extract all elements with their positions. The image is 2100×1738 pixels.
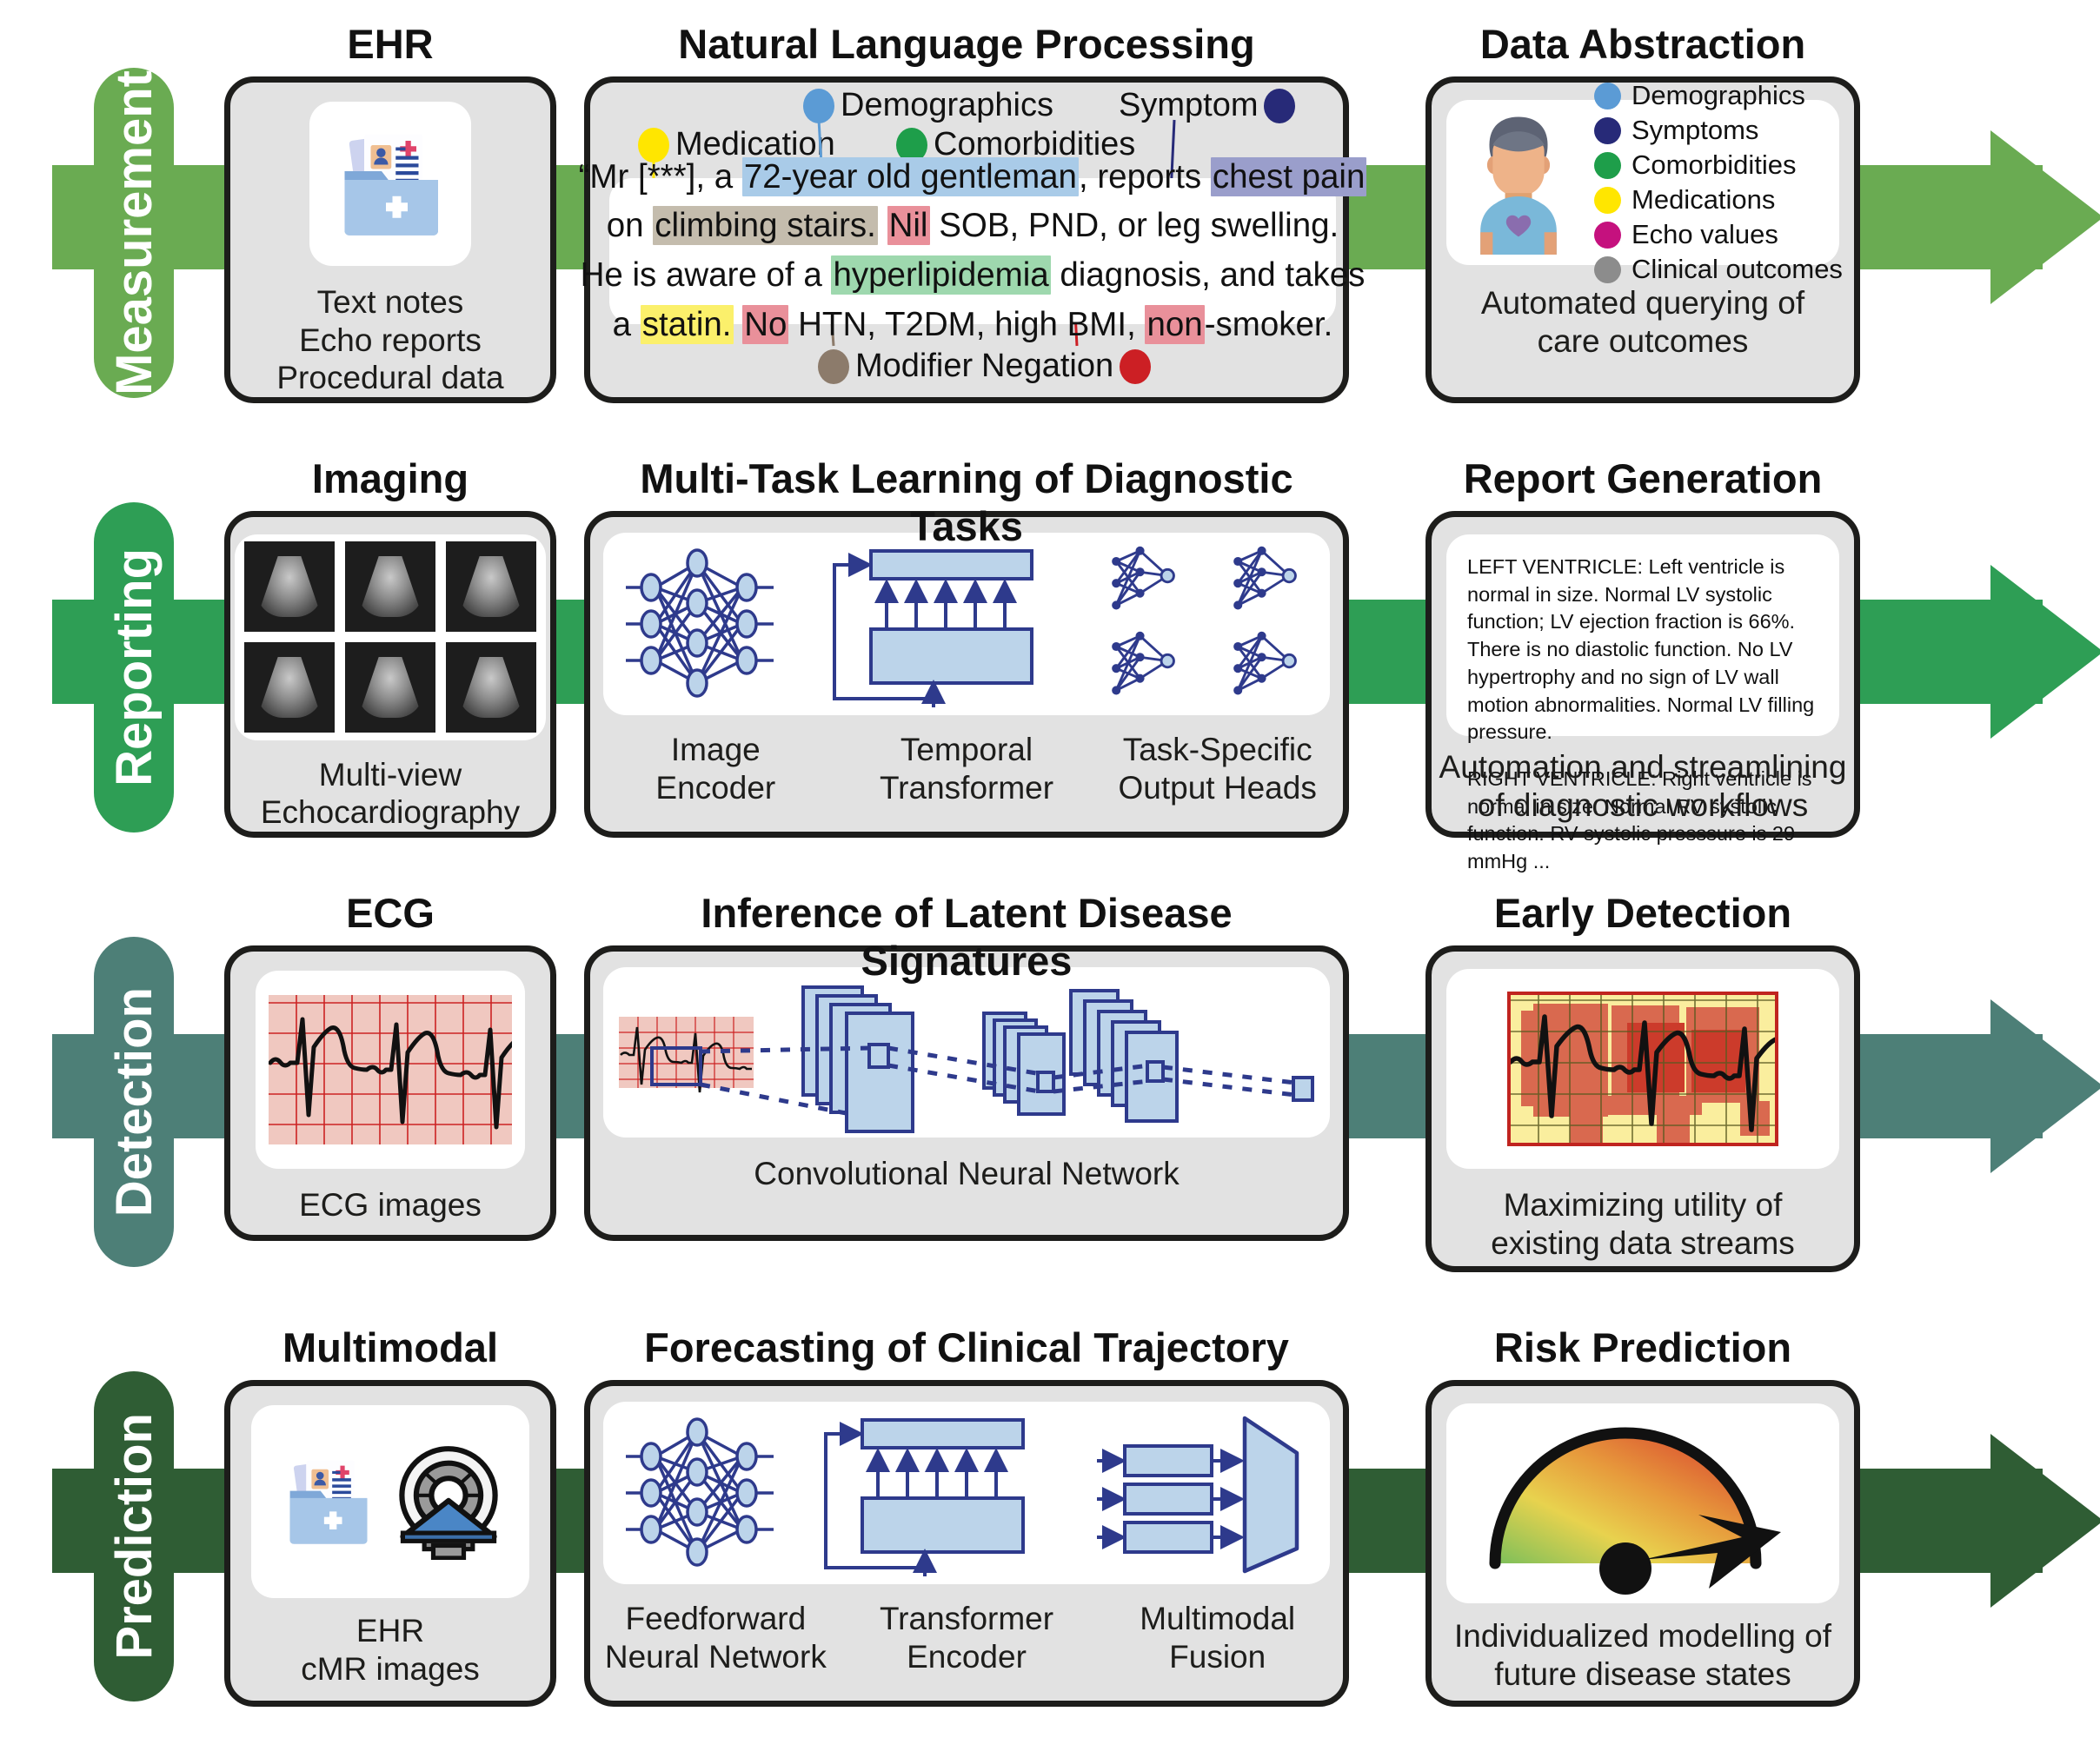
echo-tile — [446, 541, 536, 632]
panel-caption-data-abstraction: Automated querying of care outcomes — [1481, 284, 1804, 360]
panel-title-ecg: ECG — [230, 889, 550, 937]
legend-label: Demographics — [1631, 80, 1805, 111]
ecg-saliency-icon — [1507, 992, 1778, 1146]
echo-values-dot — [1594, 222, 1621, 249]
panel-caption-report-generation: Automation and streamlining of diagnosti… — [1439, 748, 1847, 824]
caption-line: Procedural data — [276, 359, 503, 397]
comorbidities-dot — [1594, 152, 1621, 179]
echo-tile — [244, 541, 335, 632]
ehr-icon-container — [309, 102, 471, 266]
panel-title-risk-prediction: Risk Prediction — [1432, 1323, 1854, 1371]
panel-ehr[interactable]: EHR Text notes Echo reports — [224, 76, 556, 403]
row-label-prediction: Prediction — [94, 1371, 174, 1702]
early-detection-inner — [1446, 969, 1839, 1169]
caption-line: cMR images — [301, 1650, 480, 1688]
panel-caption-ehr: Text notes Echo reports Procedural data — [276, 283, 503, 397]
multitask-sub-labels: ImageEncoder TemporalTransformer Task-Sp… — [590, 731, 1343, 806]
caption-line: future disease states — [1454, 1655, 1831, 1694]
echo-tile — [345, 541, 435, 632]
note-line-4: a statin. No HTN, T2DM, high BMI, non-sm… — [579, 301, 1367, 350]
risk-inner — [1446, 1403, 1839, 1603]
annotation-label: Modifier — [855, 348, 973, 385]
legend-label: Comorbidities — [1631, 149, 1797, 181]
legend-label: Medications — [1631, 184, 1775, 216]
caption-line: Automation and streamlining — [1439, 748, 1847, 786]
multimodal-inner — [251, 1405, 529, 1598]
legend-label: Echo values — [1631, 219, 1778, 250]
legend-item: Comorbidities — [1594, 149, 1843, 181]
sub-label-image-encoder: ImageEncoder — [590, 731, 841, 806]
panel-title-imaging: Imaging — [230, 454, 550, 502]
row-label-reporting: Reporting — [94, 502, 174, 833]
panel-title-report-generation: Report Generation — [1432, 454, 1854, 502]
panel-title-multimodal: Multimodal — [230, 1323, 550, 1371]
panel-report-generation[interactable]: Report Generation LEFT VENTRICLE: Left v… — [1425, 511, 1860, 838]
panel-multimodal[interactable]: Multimodal — [224, 1380, 556, 1707]
row-label-measurement: Measurement — [94, 68, 174, 398]
note-line-1: “Mr [***], a 72-year old gentleman, repo… — [579, 153, 1367, 202]
caption-line: Maximizing utility of — [1491, 1186, 1795, 1224]
panel-title-ehr: EHR — [230, 20, 550, 68]
imaging-inner — [235, 534, 546, 740]
nlp-annotation-negation: Negation — [981, 348, 1151, 385]
abstraction-inner: Demographics Symptoms Comorbidities Medi… — [1446, 100, 1839, 265]
row-arrow-prediction — [1860, 1434, 2100, 1608]
panel-caption-imaging: Multi-view Echocardiography — [261, 756, 520, 832]
caption-line: of diagnostic workflows — [1439, 786, 1847, 825]
annotation-label: Demographics — [841, 87, 1053, 124]
annotation-label: Symptom — [1119, 87, 1258, 124]
caption-line: Automated querying of — [1481, 284, 1804, 322]
nlp-annotation-modifier: Modifier — [818, 348, 973, 385]
nlp-annotation-symptom: Symptom — [1119, 87, 1295, 124]
panel-title-early-detection: Early Detection — [1432, 889, 1854, 937]
row-detection: Detection ECG ECG images Inference of La… — [0, 869, 2100, 1303]
legend-label: Symptoms — [1631, 115, 1758, 146]
row-arrow-detection — [1860, 999, 2100, 1173]
row-prediction: Prediction Multimodal — [0, 1303, 2100, 1738]
forecasting-sub-labels: FeedforwardNeural Network TransformerEnc… — [590, 1600, 1343, 1675]
panel-latent-signatures[interactable]: Inference of Latent Disease Signatures — [584, 945, 1349, 1241]
panel-title-forecasting: Forecasting of Clinical Trajectory — [590, 1323, 1343, 1371]
panel-caption-early-detection: Maximizing utility of existing data stre… — [1491, 1186, 1795, 1262]
ecg-inner — [256, 971, 525, 1169]
panel-title-data-abstraction: Data Abstraction — [1432, 20, 1854, 68]
caption-line: care outcomes — [1481, 322, 1804, 361]
panel-nlp[interactable]: Natural Language Processing Medication D… — [584, 76, 1349, 403]
cnn-diagram — [610, 972, 1323, 1133]
note-line-3: He is aware of a hyperlipidemia diagnosi… — [579, 251, 1367, 301]
patient-avatar-icon — [1462, 111, 1575, 255]
modifier-dot — [818, 349, 849, 384]
panel-imaging[interactable]: Imaging Multi-view Echocardiography — [224, 511, 556, 838]
row-label-text: Reporting — [105, 548, 163, 786]
row-label-detection: Detection — [94, 937, 174, 1267]
caption-line: Echocardiography — [261, 793, 520, 832]
panel-caption-ecg: ECG images — [299, 1186, 482, 1224]
panel-caption-multimodal: EHR cMR images — [301, 1612, 480, 1688]
forecasting-inner — [603, 1402, 1330, 1584]
medications-dot — [1594, 187, 1621, 214]
abstraction-legend: Demographics Symptoms Comorbidities Medi… — [1594, 80, 1843, 285]
note-line-2: on climbing stairs. Nil SOB, PND, or leg… — [579, 202, 1367, 251]
nlp-annotation-demographics: Demographics — [803, 87, 1053, 124]
panel-title-multitask-learning: Multi-Task Learning of Diagnostic Tasks — [590, 454, 1343, 550]
sub-label-task-specific-heads: Task-SpecificOutput Heads — [1092, 731, 1343, 806]
nlp-note-text: “Mr [***], a 72-year old gentleman, repo… — [579, 153, 1367, 349]
panel-ecg[interactable]: ECG ECG images — [224, 945, 556, 1241]
symptom-dot — [1264, 89, 1295, 123]
legend-item: Clinical outcomes — [1594, 254, 1843, 285]
mri-scanner-icon — [390, 1443, 507, 1560]
caption-line: Text notes — [276, 283, 503, 322]
demographics-dot — [803, 89, 834, 123]
panel-risk-prediction[interactable]: Risk Prediction — [1425, 1380, 1860, 1707]
multitask-inner — [603, 533, 1330, 715]
panel-title-nlp: Natural Language Processing — [590, 20, 1343, 68]
echo-tile — [244, 642, 335, 733]
multitask-diagram — [610, 537, 1323, 711]
sub-label-temporal-transformer: TemporalTransformer — [841, 731, 1093, 806]
echocardiography-grid-icon — [244, 541, 536, 733]
sub-label-multimodal-fusion: MultimodalFusion — [1092, 1600, 1343, 1675]
legend-item: Medications — [1594, 184, 1843, 216]
ehr-folder-icon — [274, 1448, 382, 1556]
report-generation-text: LEFT VENTRICLE: Left ventricle is normal… — [1446, 534, 1839, 895]
legend-item: Echo values — [1594, 219, 1843, 250]
panel-early-detection[interactable]: Early Detection — [1425, 945, 1860, 1272]
clinical-outcomes-dot — [1594, 256, 1621, 283]
panel-multitask-learning[interactable]: Multi-Task Learning of Diagnostic Tasks — [584, 511, 1349, 838]
caption-line: existing data streams — [1491, 1224, 1795, 1263]
panel-forecasting[interactable]: Forecasting of Clinical Trajectory — [584, 1380, 1349, 1707]
row-arrow-measurement — [1860, 130, 2100, 304]
caption-line: Multi-view — [261, 756, 520, 794]
echo-tile — [345, 642, 435, 733]
panel-data-abstraction[interactable]: Data Abstraction Demographics Symptoms C… — [1425, 76, 1860, 403]
row-arrow-reporting — [1860, 565, 2100, 739]
panel-caption-risk-prediction: Individualized modelling of future disea… — [1454, 1617, 1831, 1693]
echo-tile — [446, 642, 536, 733]
caption-line: Individualized modelling of — [1454, 1617, 1831, 1655]
legend-item: Demographics — [1594, 80, 1843, 111]
forecasting-diagram — [610, 1406, 1323, 1580]
caption-line: EHR — [301, 1612, 480, 1650]
panel-caption-latent-signatures: Convolutional Neural Network — [754, 1155, 1179, 1193]
row-label-text: Measurement — [105, 70, 163, 395]
caption-line: Echo reports — [276, 322, 503, 360]
risk-gauge-icon — [1481, 1410, 1804, 1596]
row-label-text: Detection — [105, 987, 163, 1217]
cnn-inner — [603, 967, 1330, 1138]
row-label-text: Prediction — [105, 1413, 163, 1660]
legend-label: Clinical outcomes — [1631, 254, 1843, 285]
ehr-folder-icon — [325, 119, 455, 249]
symptoms-dot — [1594, 117, 1621, 144]
nlp-note-box: “Mr [***], a 72-year old gentleman, repo… — [609, 178, 1336, 324]
sub-label-feedforward-nn: FeedforwardNeural Network — [590, 1600, 841, 1675]
negation-dot — [1120, 349, 1151, 384]
row-measurement: Measurement EHR Text note — [0, 0, 2100, 434]
demographics-dot — [1594, 83, 1621, 109]
ecg-trace-icon — [269, 995, 512, 1144]
sub-label-transformer-encoder: TransformerEncoder — [841, 1600, 1093, 1675]
report-inner: LEFT VENTRICLE: Left ventricle is normal… — [1446, 534, 1839, 736]
legend-item: Symptoms — [1594, 115, 1843, 146]
panel-title-latent-signatures: Inference of Latent Disease Signatures — [590, 889, 1343, 985]
report-paragraph: LEFT VENTRICLE: Left ventricle is normal… — [1467, 554, 1818, 746]
annotation-label: Negation — [981, 348, 1113, 385]
row-reporting: Reporting Imaging Multi-view Echocardiog… — [0, 434, 2100, 869]
